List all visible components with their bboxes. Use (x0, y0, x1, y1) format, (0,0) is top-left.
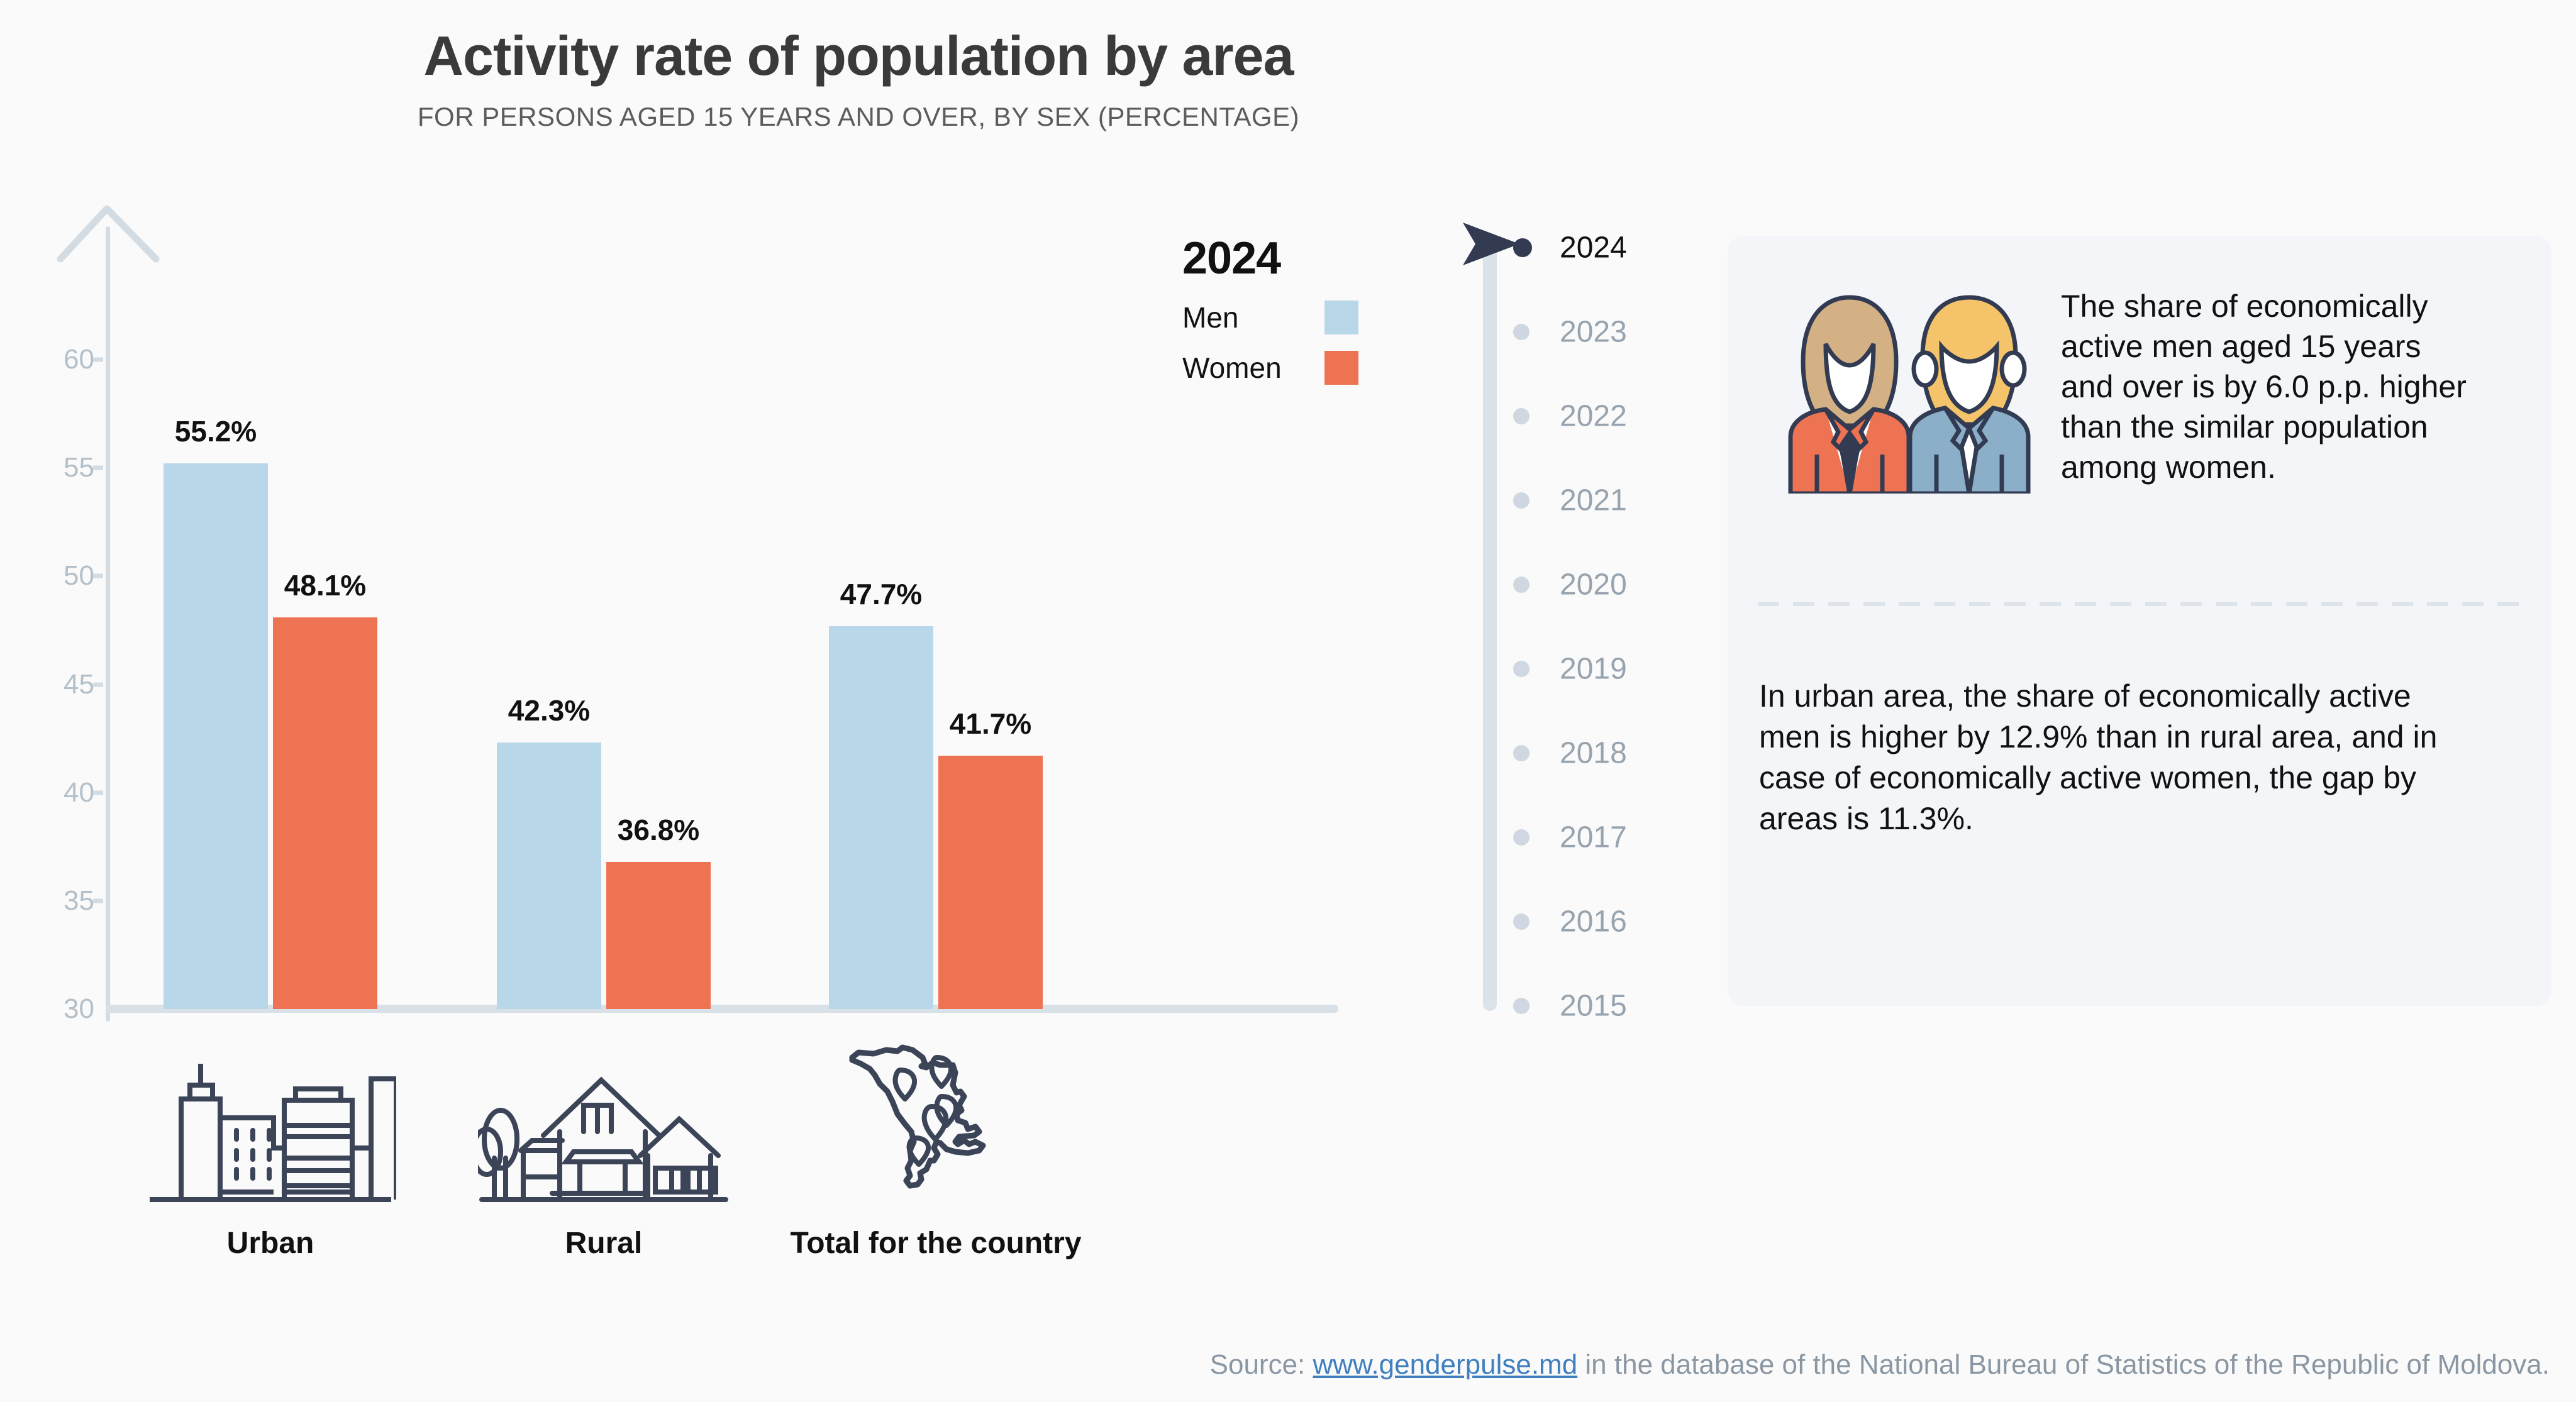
y-axis-tick-label: 40 (0, 777, 94, 809)
timeline-dot-2021[interactable] (1513, 492, 1529, 509)
category-label: Total for the country (772, 1226, 1099, 1261)
bar-urban-women[interactable] (273, 617, 377, 1009)
y-axis-tick-mark (93, 466, 103, 470)
chart-legend: 2024 MenWomen (1182, 233, 1390, 385)
bar-value-label: 48.1% (284, 568, 366, 602)
rural-houses-icon (440, 1044, 767, 1207)
legend-item-women[interactable]: Women (1182, 351, 1358, 385)
timeline-year-2021[interactable]: 2021 (1560, 483, 1627, 518)
bar-urban-men[interactable] (164, 463, 268, 1009)
legend-item-label: Men (1182, 301, 1238, 334)
category-label: Urban (107, 1226, 434, 1261)
timeline-year-2016[interactable]: 2016 (1560, 905, 1627, 939)
legend-year: 2024 (1182, 233, 1390, 284)
timeline-rail (1483, 244, 1497, 1011)
timeline-year-2020[interactable]: 2020 (1560, 568, 1627, 602)
y-axis-tick-mark (93, 358, 103, 362)
bar-rural-men[interactable] (497, 742, 601, 1009)
info-paragraph-2: In urban area, the share of economically… (1759, 676, 2463, 839)
info-divider (1758, 602, 2522, 606)
timeline-year-2017[interactable]: 2017 (1560, 820, 1627, 855)
source-footer: Source: www.genderpulse.md in the databa… (0, 1349, 2576, 1381)
y-axis-tick-label: 60 (0, 344, 94, 375)
category-label: Rural (440, 1226, 767, 1261)
legend-item-men[interactable]: Men (1182, 301, 1358, 334)
timeline-dot-2019[interactable] (1513, 661, 1529, 677)
source-link[interactable]: www.genderpulse.md (1313, 1349, 1578, 1380)
category-axis: Urban (0, 1044, 1415, 1320)
chart-header: Activity rate of population by area FOR … (0, 0, 1717, 132)
bar-value-label: 36.8% (618, 813, 699, 847)
y-axis-tick-mark (93, 898, 103, 903)
timeline-dot-2020[interactable] (1513, 577, 1529, 593)
timeline-dot-2024[interactable] (1513, 238, 1532, 257)
y-axis-tick-mark (93, 682, 103, 687)
y-axis-tick-label: 45 (0, 669, 94, 700)
y-axis-line (106, 226, 110, 1022)
page-title: Activity rate of population by area (0, 24, 1717, 88)
moldova-map-icon (772, 1044, 1099, 1207)
page-subtitle: FOR PERSONS AGED 15 YEARS AND OVER, BY S… (0, 102, 1717, 132)
timeline-dot-2022[interactable] (1513, 408, 1529, 424)
timeline-year-2023[interactable]: 2023 (1560, 315, 1627, 350)
y-axis-tick-mark (93, 574, 103, 578)
legend-color-swatch (1324, 351, 1358, 385)
bar-value-label: 41.7% (950, 707, 1031, 741)
bar-total-for-the-country-men[interactable] (829, 626, 933, 1009)
y-axis-tick-label: 50 (0, 560, 94, 592)
city-skyline-icon (107, 1044, 434, 1207)
year-timeline[interactable]: 2024202320222021202020192018201720162015 (1465, 233, 1679, 1018)
timeline-year-2019[interactable]: 2019 (1560, 652, 1627, 687)
legend-color-swatch (1324, 301, 1358, 334)
bar-value-label: 47.7% (840, 577, 922, 611)
source-prefix: Source: (1210, 1349, 1313, 1380)
y-axis-tick-label: 35 (0, 885, 94, 917)
timeline-year-2022[interactable]: 2022 (1560, 399, 1627, 434)
timeline-dot-2016[interactable] (1513, 914, 1529, 930)
category-total: Total for the country (772, 1044, 1099, 1261)
y-axis-tick-label: 30 (0, 993, 94, 1025)
man-and-woman-avatar-icon (1784, 286, 2048, 497)
bar-rural-women[interactable] (606, 862, 711, 1009)
info-paragraph-1: The share of economically active men age… (2061, 286, 2476, 497)
y-axis-tick-label: 55 (0, 452, 94, 483)
timeline-year-2018[interactable]: 2018 (1560, 736, 1627, 771)
timeline-year-2024[interactable]: 2024 (1560, 231, 1627, 265)
timeline-dot-2023[interactable] (1513, 324, 1529, 340)
legend-item-label: Women (1182, 351, 1282, 385)
category-urban: Urban (107, 1044, 434, 1261)
bar-total-for-the-country-women[interactable] (938, 756, 1043, 1009)
timeline-dot-2015[interactable] (1513, 998, 1529, 1014)
timeline-dot-2017[interactable] (1513, 829, 1529, 846)
timeline-year-2015[interactable]: 2015 (1560, 989, 1627, 1024)
info-card: The share of economically active men age… (1728, 236, 2551, 1006)
y-axis-tick-mark (93, 790, 103, 795)
bar-value-label: 42.3% (508, 693, 590, 727)
category-rural: Rural (440, 1044, 767, 1261)
legend-items: MenWomen (1182, 301, 1390, 385)
timeline-dot-2018[interactable] (1513, 745, 1529, 761)
info-top-block: The share of economically active men age… (1728, 286, 2551, 497)
source-suffix: in the database of the National Bureau o… (1577, 1349, 2550, 1380)
bar-value-label: 55.2% (175, 414, 257, 448)
